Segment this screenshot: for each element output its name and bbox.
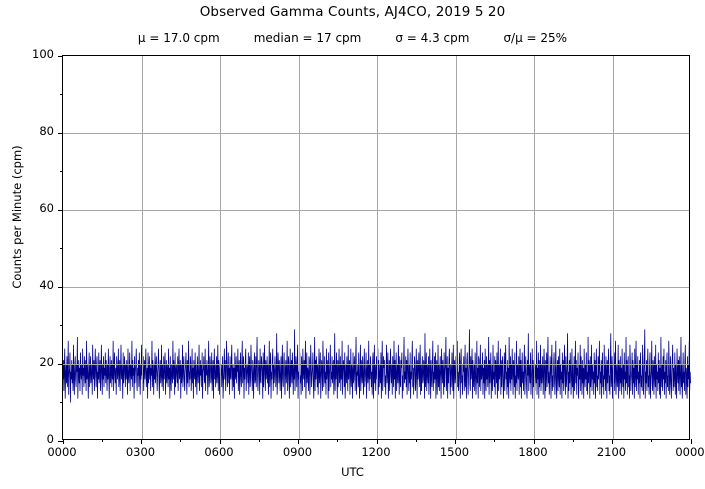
plot-area: [62, 55, 690, 440]
y-tick-minor: [60, 325, 63, 326]
y-tick-major: [58, 56, 63, 57]
x-tick-label: 0000: [660, 445, 705, 459]
x-tick-minor: [102, 439, 103, 442]
x-tick-major: [691, 439, 692, 444]
x-tick-major: [377, 439, 378, 444]
x-tick-major: [63, 439, 64, 444]
gridline-vertical: [534, 56, 535, 439]
y-tick-major: [58, 287, 63, 288]
chart-title: Observed Gamma Counts, AJ4CO, 2019 5 20: [0, 4, 705, 20]
gridline-vertical: [613, 56, 614, 439]
x-tick-major: [298, 439, 299, 444]
gridline-horizontal: [63, 133, 689, 134]
gridline-horizontal: [63, 287, 689, 288]
gridline-vertical: [220, 56, 221, 439]
subtitle-sigma: σ = 4.3 cpm: [395, 31, 469, 45]
x-tick-minor: [416, 439, 417, 442]
x-tick-label: 0900: [268, 445, 328, 459]
gridline-vertical: [377, 56, 378, 439]
gridline-vertical: [142, 56, 143, 439]
y-axis-label: Counts per Minute (cpm): [10, 107, 24, 327]
x-tick-label: 0300: [111, 445, 171, 459]
x-tick-major: [455, 439, 456, 444]
x-tick-major: [141, 439, 142, 444]
x-tick-minor: [180, 439, 181, 442]
x-tick-label: 1500: [425, 445, 485, 459]
x-tick-minor: [494, 439, 495, 442]
gridline-horizontal: [63, 210, 689, 211]
x-tick-label: 1200: [346, 445, 406, 459]
x-tick-major: [534, 439, 535, 444]
chart-subtitle: μ = 17.0 cpmmedian = 17 cpmσ = 4.3 cpmσ/…: [0, 31, 705, 45]
x-tick-minor: [259, 439, 260, 442]
subtitle-sigma-over-mu: σ/μ = 25%: [503, 31, 567, 45]
x-tick-label: 2100: [582, 445, 642, 459]
x-tick-major: [612, 439, 613, 444]
gridline-horizontal: [63, 364, 689, 365]
subtitle-median: median = 17 cpm: [254, 31, 362, 45]
subtitle-mean: μ = 17.0 cpm: [138, 31, 220, 45]
x-tick-label: 0000: [32, 445, 92, 459]
y-tick-major: [58, 210, 63, 211]
x-tick-minor: [651, 439, 652, 442]
y-tick-label: 20: [6, 355, 54, 369]
y-tick-label: 100: [6, 47, 54, 61]
gamma-counts-figure: Observed Gamma Counts, AJ4CO, 2019 5 20 …: [0, 0, 705, 489]
x-tick-label: 0600: [189, 445, 249, 459]
x-axis-label: UTC: [0, 465, 705, 479]
y-tick-minor: [60, 248, 63, 249]
x-tick-major: [220, 439, 221, 444]
x-tick-label: 1800: [503, 445, 563, 459]
y-tick-minor: [60, 171, 63, 172]
y-tick-major: [58, 364, 63, 365]
x-tick-minor: [573, 439, 574, 442]
gridline-vertical: [299, 56, 300, 439]
y-tick-minor: [60, 402, 63, 403]
y-tick-major: [58, 133, 63, 134]
y-tick-label: 0: [6, 432, 54, 446]
gridline-vertical: [456, 56, 457, 439]
x-tick-minor: [337, 439, 338, 442]
y-tick-minor: [60, 94, 63, 95]
